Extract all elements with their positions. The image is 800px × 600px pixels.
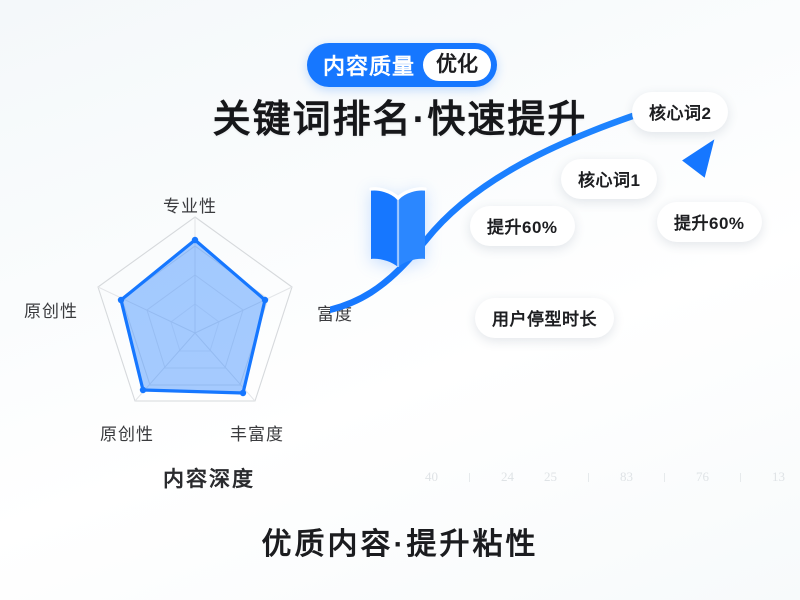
- scale-value: 24: [486, 469, 529, 485]
- radar-label-originality-bottom: 原创性: [100, 420, 154, 445]
- open-book-icon: [367, 185, 429, 273]
- radar-chart-svg: [30, 205, 360, 455]
- scale-tick: [588, 473, 589, 482]
- growth-arrow-head: [681, 139, 715, 178]
- content-quality-badge: 内容质量 优化: [307, 43, 497, 87]
- radar-label-richness: 丰富度: [230, 420, 284, 445]
- radar-label-originality-left: 原创性: [24, 297, 78, 322]
- callout-dwell-time: 用户停型时长: [475, 298, 614, 338]
- section-caption: 内容深度: [163, 463, 255, 493]
- scale-tick: [740, 473, 741, 482]
- badge-sub-label: 优化: [423, 49, 491, 81]
- scale-value: 83: [605, 469, 648, 485]
- faint-axis-scale: 40 24 25 83 76 13: [410, 464, 800, 490]
- callout-keyword-1: 核心词1: [561, 159, 657, 199]
- bottom-headline: 优质内容·提升粘性: [0, 519, 800, 563]
- scale-tick: [469, 473, 470, 482]
- badge-main-label: 内容质量: [323, 49, 423, 81]
- callout-uplift-left: 提升60%: [470, 206, 575, 246]
- callout-uplift-right: 提升60%: [657, 202, 762, 242]
- open-book-svg: [367, 185, 429, 273]
- radar-series-area: [121, 240, 265, 393]
- scale-value: 25: [529, 469, 572, 485]
- radar-label-professional: 专业性: [163, 192, 217, 217]
- infographic-canvas: 内容质量 优化 关键词排名·快速提升: [0, 0, 800, 600]
- scale-tick: [664, 473, 665, 482]
- scale-value: 76: [681, 469, 724, 485]
- scale-value: 13: [757, 469, 800, 485]
- scale-value: 40: [410, 469, 453, 485]
- radar-chart: 专业性 富度 丰富度 原创性 原创性: [30, 205, 360, 455]
- callout-keyword-2: 核心词2: [632, 92, 728, 132]
